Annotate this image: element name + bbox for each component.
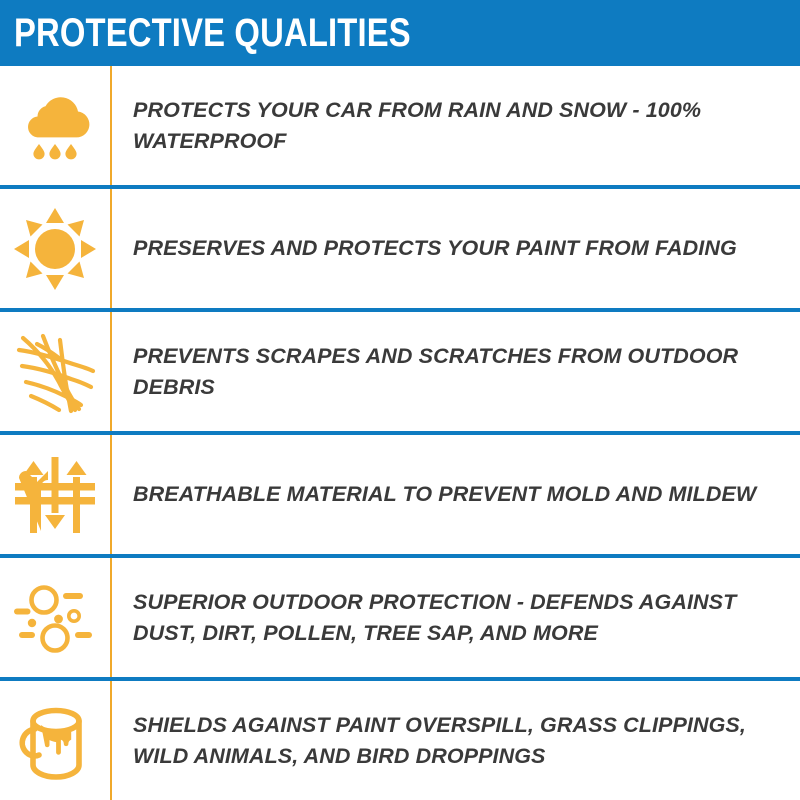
sun-icon: [0, 189, 110, 308]
feature-row-waterproof: PROTECTS YOUR CAR FROM RAIN AND SNOW - 1…: [0, 66, 800, 185]
feature-row-scratch-resistance: PREVENTS SCRAPES AND SCRATCHES FROM OUTD…: [0, 308, 800, 431]
feature-row-paint-overspill: SHIELDS AGAINST PAINT OVERSPILL, GRASS C…: [0, 677, 800, 800]
feature-row-uv-fading: PRESERVES AND PROTECTS YOUR PAINT FROM F…: [0, 185, 800, 308]
feature-label: BREATHABLE MATERIAL TO PREVENT MOLD AND …: [133, 479, 776, 510]
page-title: PROTECTIVE QUALITIES: [0, 13, 411, 53]
feature-text-cell: SUPERIOR OUTDOOR PROTECTION - DEFENDS AG…: [110, 587, 800, 648]
feature-label: SUPERIOR OUTDOOR PROTECTION - DEFENDS AG…: [133, 587, 776, 648]
feature-text-cell: PROTECTS YOUR CAR FROM RAIN AND SNOW - 1…: [110, 95, 800, 156]
feature-text-cell: PREVENTS SCRAPES AND SCRATCHES FROM OUTD…: [110, 341, 800, 402]
feature-text-cell: BREATHABLE MATERIAL TO PREVENT MOLD AND …: [110, 479, 800, 510]
paint-can-icon: [0, 681, 110, 800]
feature-label: PRESERVES AND PROTECTS YOUR PAINT FROM F…: [133, 233, 776, 264]
breathable-airflow-icon: [0, 435, 110, 554]
feature-row-dust-protection: SUPERIOR OUTDOOR PROTECTION - DEFENDS AG…: [0, 554, 800, 677]
feature-label: PROTECTS YOUR CAR FROM RAIN AND SNOW - 1…: [133, 95, 776, 156]
feature-row-breathable: BREATHABLE MATERIAL TO PREVENT MOLD AND …: [0, 431, 800, 554]
protective-qualities-infographic: PROTECTIVE QUALITIES PROTECTS YOUR CAR F…: [0, 0, 800, 800]
dust-particles-icon: [0, 558, 110, 677]
header-bar: PROTECTIVE QUALITIES: [0, 0, 800, 66]
feature-label: PREVENTS SCRAPES AND SCRATCHES FROM OUTD…: [133, 341, 776, 402]
feature-list: PROTECTS YOUR CAR FROM RAIN AND SNOW - 1…: [0, 66, 800, 800]
feature-text-cell: SHIELDS AGAINST PAINT OVERSPILL, GRASS C…: [110, 710, 800, 771]
cloud-rain-icon: [0, 66, 110, 185]
feature-label: SHIELDS AGAINST PAINT OVERSPILL, GRASS C…: [133, 710, 776, 771]
feature-text-cell: PRESERVES AND PROTECTS YOUR PAINT FROM F…: [110, 233, 800, 264]
scratches-icon: [0, 312, 110, 431]
